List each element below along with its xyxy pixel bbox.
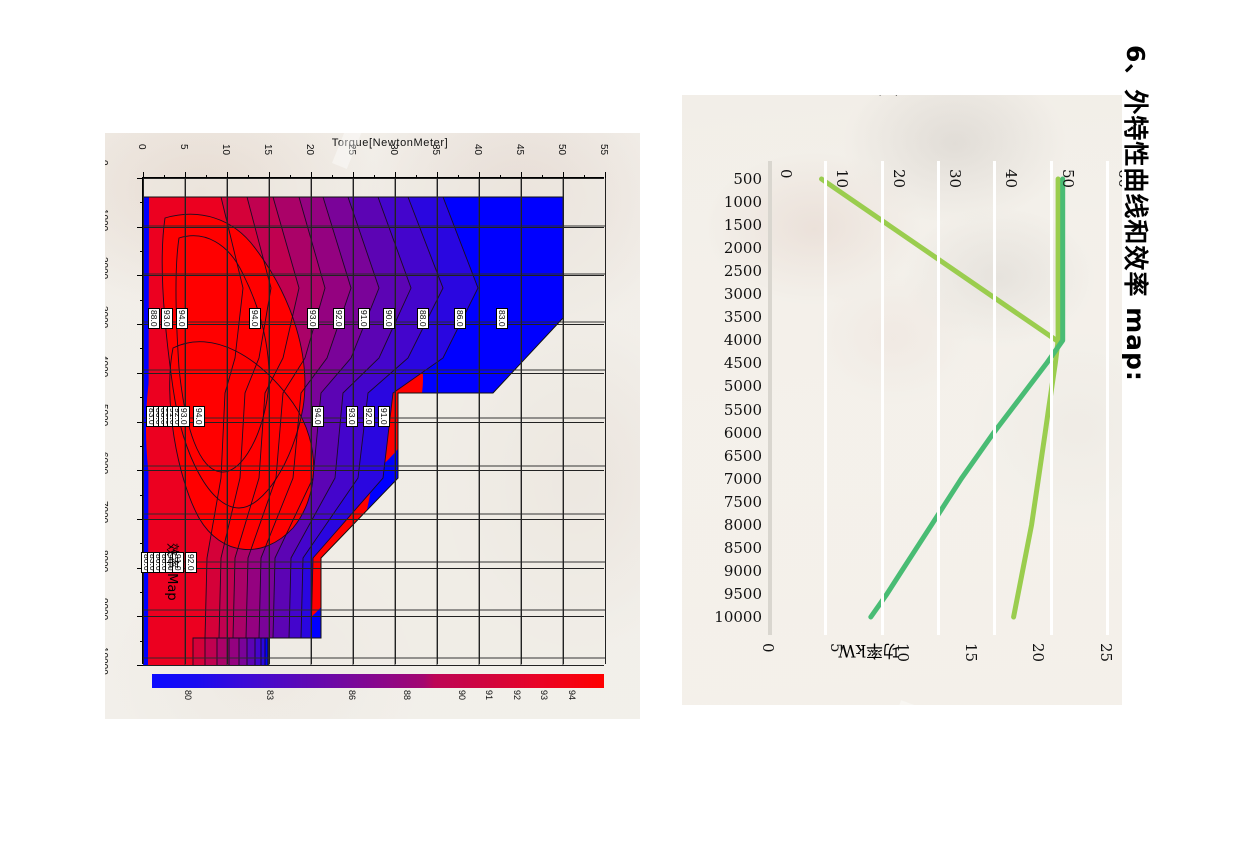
- speed-gridline: [143, 616, 604, 617]
- torque-axis-title: 扭矩Nm: [835, 95, 900, 101]
- speed-tick: [137, 324, 143, 325]
- rpm-tick-label: 3500: [724, 308, 762, 326]
- power-tick-label: 25: [1097, 643, 1115, 662]
- speed-tick-label: 8000: [105, 550, 109, 572]
- speed-gridline: [143, 519, 604, 520]
- contour-label: 94.0: [193, 406, 205, 427]
- power-tick-label: 0: [759, 643, 777, 653]
- rpm-tick-label: 6500: [724, 447, 762, 465]
- rpm-tick-label: 1500: [724, 216, 762, 234]
- contour-label: 90.0: [383, 308, 395, 329]
- rpm-tick-label: 10000: [714, 608, 762, 626]
- contour-label: 93.0: [178, 406, 190, 427]
- speed-gridline: [143, 568, 604, 569]
- contour-label: 83.0: [496, 308, 508, 329]
- colorbar-tick-label: 94: [567, 690, 577, 700]
- torque-tick-label: 10: [220, 144, 231, 155]
- contour-label: 92.0: [363, 406, 375, 427]
- torque-tick-label-right: 0: [777, 169, 795, 179]
- speed-minor-tick: [140, 446, 143, 447]
- torque-tick-label-right: 60: [1115, 169, 1122, 188]
- curve-gridline: [937, 161, 940, 635]
- power-tick-label: 10: [894, 643, 912, 662]
- speed-tick-label: 4000: [105, 355, 109, 377]
- speed-tick: [137, 616, 143, 617]
- colorbar-tick-label: 80: [183, 690, 193, 700]
- rpm-tick-label: 7500: [724, 493, 762, 511]
- rpm-tick-label: 5000: [724, 377, 762, 395]
- speed-gridline: [143, 665, 604, 666]
- speed-tick-label: 1000: [105, 209, 109, 231]
- contour-label: 92.0: [333, 308, 345, 329]
- speed-tick-label: 5000: [105, 404, 109, 426]
- contour-label: 93.0: [346, 406, 358, 427]
- rpm-tick-label: 8000: [724, 516, 762, 534]
- torque-tick-label: 20: [304, 144, 315, 155]
- speed-tick: [137, 665, 143, 666]
- curve-gridline: [881, 161, 884, 635]
- curve-plot-area: 5001000150020002500300035004000450050005…: [768, 161, 1106, 635]
- contour-label: 91.0: [378, 406, 390, 427]
- speed-tick-label: 0: [105, 160, 109, 166]
- power-tick-label: 5: [827, 643, 845, 653]
- speed-minor-tick: [140, 300, 143, 301]
- contour-label: 86.0: [454, 308, 466, 329]
- colorbar-tick-label: 86: [347, 690, 357, 700]
- rpm-tick-label: 4000: [724, 331, 762, 349]
- speed-minor-tick: [140, 543, 143, 544]
- torque-tick-label: 50: [556, 144, 567, 155]
- efficiency-plot-area: 0510152025303540455055010002000300040005…: [142, 177, 604, 664]
- rpm-tick-label: 2000: [724, 239, 762, 257]
- torque-tick-label: 5: [178, 144, 189, 150]
- curve-gridline: [1050, 161, 1053, 635]
- torque-gridline: [605, 178, 606, 664]
- contour-label: 94.0: [313, 406, 325, 427]
- speed-gridline: [143, 275, 604, 276]
- colorbar-tick-label: 83: [265, 690, 275, 700]
- torque-tick-label: 40: [472, 144, 483, 155]
- speed-axis-title-right: 转速rpm: [682, 349, 686, 414]
- power-curve: [871, 179, 1063, 617]
- speed-tick: [137, 519, 143, 520]
- speed-tick: [137, 178, 143, 179]
- speed-minor-tick: [140, 348, 143, 349]
- speed-gridline: [143, 227, 604, 228]
- torque-tick-label: 0: [136, 144, 147, 150]
- curve-gridline: [768, 161, 772, 635]
- contour-label: 93.0: [161, 308, 173, 329]
- torque-tick-label: 35: [430, 144, 441, 155]
- power-axis-title: 功率kW: [838, 640, 900, 665]
- rpm-tick-label: 9000: [724, 562, 762, 580]
- speed-gridline: [143, 470, 604, 471]
- speed-tick-label: 7000: [105, 501, 109, 523]
- torque-tick-label-right: 50: [1059, 169, 1077, 188]
- torque-tick-label: 45: [514, 144, 525, 155]
- speed-gridline: [143, 373, 604, 374]
- rpm-tick-label: 500: [733, 170, 762, 188]
- contour-label: 94.0: [249, 308, 261, 329]
- torque-tick-label-right: 30: [946, 169, 964, 188]
- rpm-tick-label: 6000: [724, 424, 762, 442]
- torque-tick-label: 15: [262, 144, 273, 155]
- contour-label: 92.0: [185, 552, 197, 573]
- torque-tick-label-right: 20: [890, 169, 908, 188]
- rpm-tick-label: 7000: [724, 470, 762, 488]
- curve-gridline: [1106, 161, 1109, 635]
- rpm-tick-label: 8500: [724, 539, 762, 557]
- colorbar-tick-label: 93: [539, 690, 549, 700]
- speed-minor-tick: [140, 202, 143, 203]
- speed-tick: [137, 422, 143, 423]
- power-tick-label: 20: [1029, 643, 1047, 662]
- speed-gridline: [143, 178, 604, 179]
- contour-label: 93.0: [307, 308, 319, 329]
- torque-tick-label: 25: [346, 144, 357, 155]
- rpm-tick-label: 3000: [724, 285, 762, 303]
- rpm-tick-label: 5500: [724, 401, 762, 419]
- torque-tick-label: 55: [598, 144, 609, 155]
- colorbar-tick-label: 88: [402, 690, 412, 700]
- efficiency-map-caption: 效率 Map: [164, 543, 183, 601]
- speed-gridline: [143, 324, 604, 325]
- colorbar-gradient: [152, 674, 604, 688]
- contour-label: 88.0: [148, 308, 160, 329]
- rpm-tick-label: 2500: [724, 262, 762, 280]
- contour-label: 88.0: [417, 308, 429, 329]
- colorbar-tick-label: 92: [512, 690, 522, 700]
- speed-tick: [137, 275, 143, 276]
- speed-minor-tick: [140, 251, 143, 252]
- contour-label: 94.0: [176, 308, 188, 329]
- torque-tick-label: 30: [388, 144, 399, 155]
- torque-tick-label-right: 40: [1002, 169, 1020, 188]
- torque-tick-label-right: 10: [833, 169, 851, 188]
- colorbar-tick-label: 91: [484, 690, 494, 700]
- curve-gridline: [824, 161, 827, 635]
- external-characteristic-figure: 扭矩Nm 功率kW 转速rpm 500100015002000250030003…: [682, 95, 1122, 705]
- efficiency-map-figure: Torque[NewtonMeter] Speed[rpm]: [105, 133, 640, 719]
- speed-tick: [137, 470, 143, 471]
- speed-tick-label: 2000: [105, 257, 109, 279]
- speed-tick-label: 9000: [105, 598, 109, 620]
- colorbar: 808386889091929394: [152, 674, 604, 688]
- curve-gridline: [993, 161, 996, 635]
- light-streak-bottom: [860, 700, 920, 820]
- colorbar-tick-label: 90: [457, 690, 467, 700]
- speed-tick-label: 6000: [105, 452, 109, 474]
- rpm-tick-label: 1000: [724, 193, 762, 211]
- speed-tick-label: 3000: [105, 306, 109, 328]
- rpm-tick-label: 4500: [724, 354, 762, 372]
- speed-minor-tick: [140, 592, 143, 593]
- speed-tick: [137, 373, 143, 374]
- speed-tick: [137, 227, 143, 228]
- rpm-tick-label: 9500: [724, 585, 762, 603]
- speed-minor-tick: [140, 495, 143, 496]
- torque-tick: [605, 172, 606, 178]
- contour-label: 91.0: [358, 308, 370, 329]
- speed-minor-tick: [140, 641, 143, 642]
- speed-tick-label: 10000: [105, 647, 109, 675]
- speed-minor-tick: [140, 397, 143, 398]
- power-tick-label: 15: [962, 643, 980, 662]
